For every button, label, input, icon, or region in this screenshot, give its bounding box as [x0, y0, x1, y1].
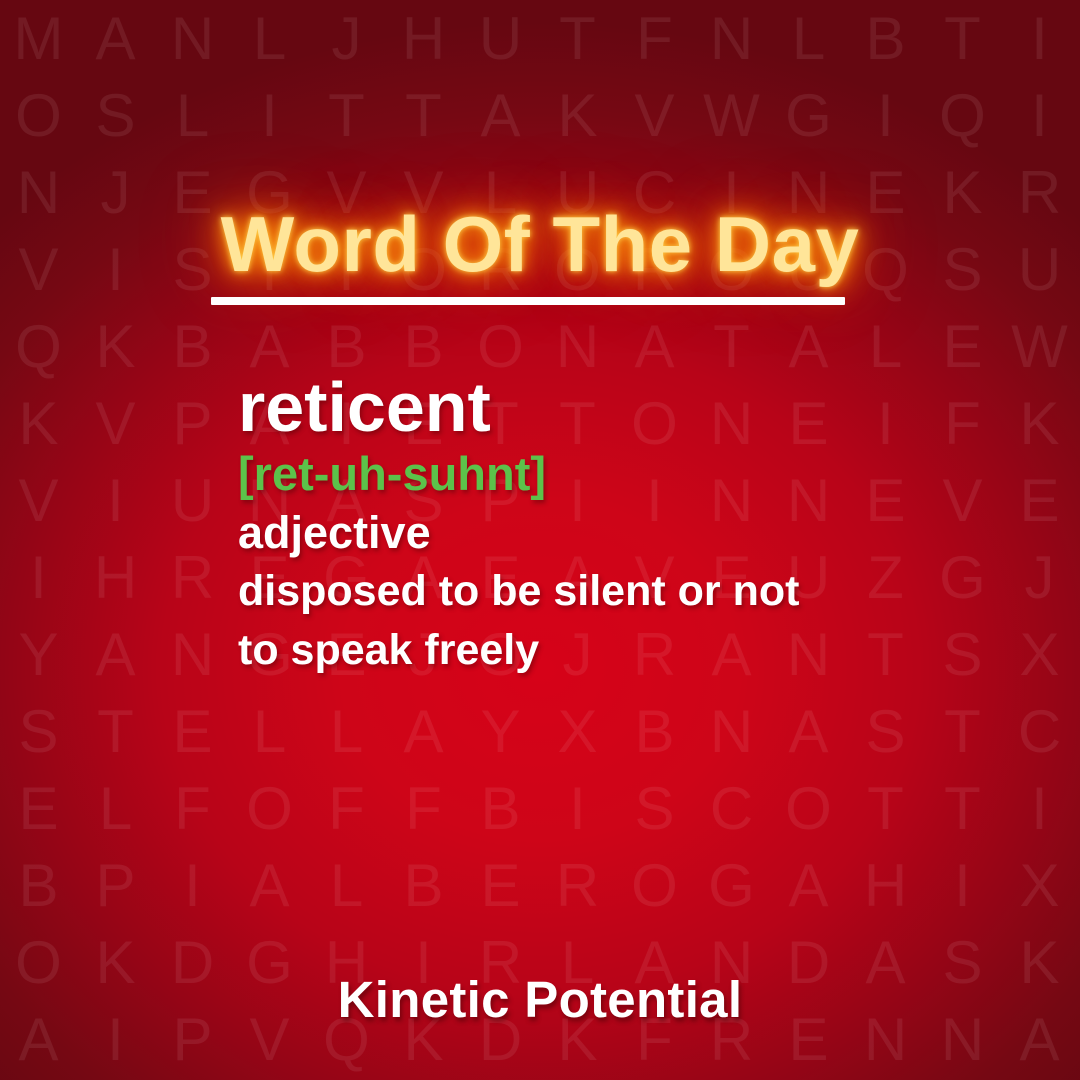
word-part-of-speech: adjective	[238, 508, 878, 558]
page-title: Word Of The Day	[221, 204, 860, 285]
card-content: Word Of The Day reticent [ret-uh-suhnt] …	[0, 0, 1080, 1080]
definition-block: reticent [ret-uh-suhnt] adjective dispos…	[238, 372, 878, 680]
title-block: Word Of The Day	[0, 204, 1080, 285]
title-underline	[211, 297, 845, 305]
word-pronunciation: [ret-uh-suhnt]	[238, 449, 878, 500]
brand-name: Kinetic Potential	[338, 972, 743, 1028]
word-definition: disposed to be silent or not to speak fr…	[238, 562, 838, 681]
word-of-the-day-card: MANLJHUTFNLBTIOSLITTAKVWGIQINJEGVVLUCINE…	[0, 0, 1080, 1080]
footer-block: Kinetic Potential	[0, 972, 1080, 1028]
word-headword: reticent	[238, 372, 878, 443]
